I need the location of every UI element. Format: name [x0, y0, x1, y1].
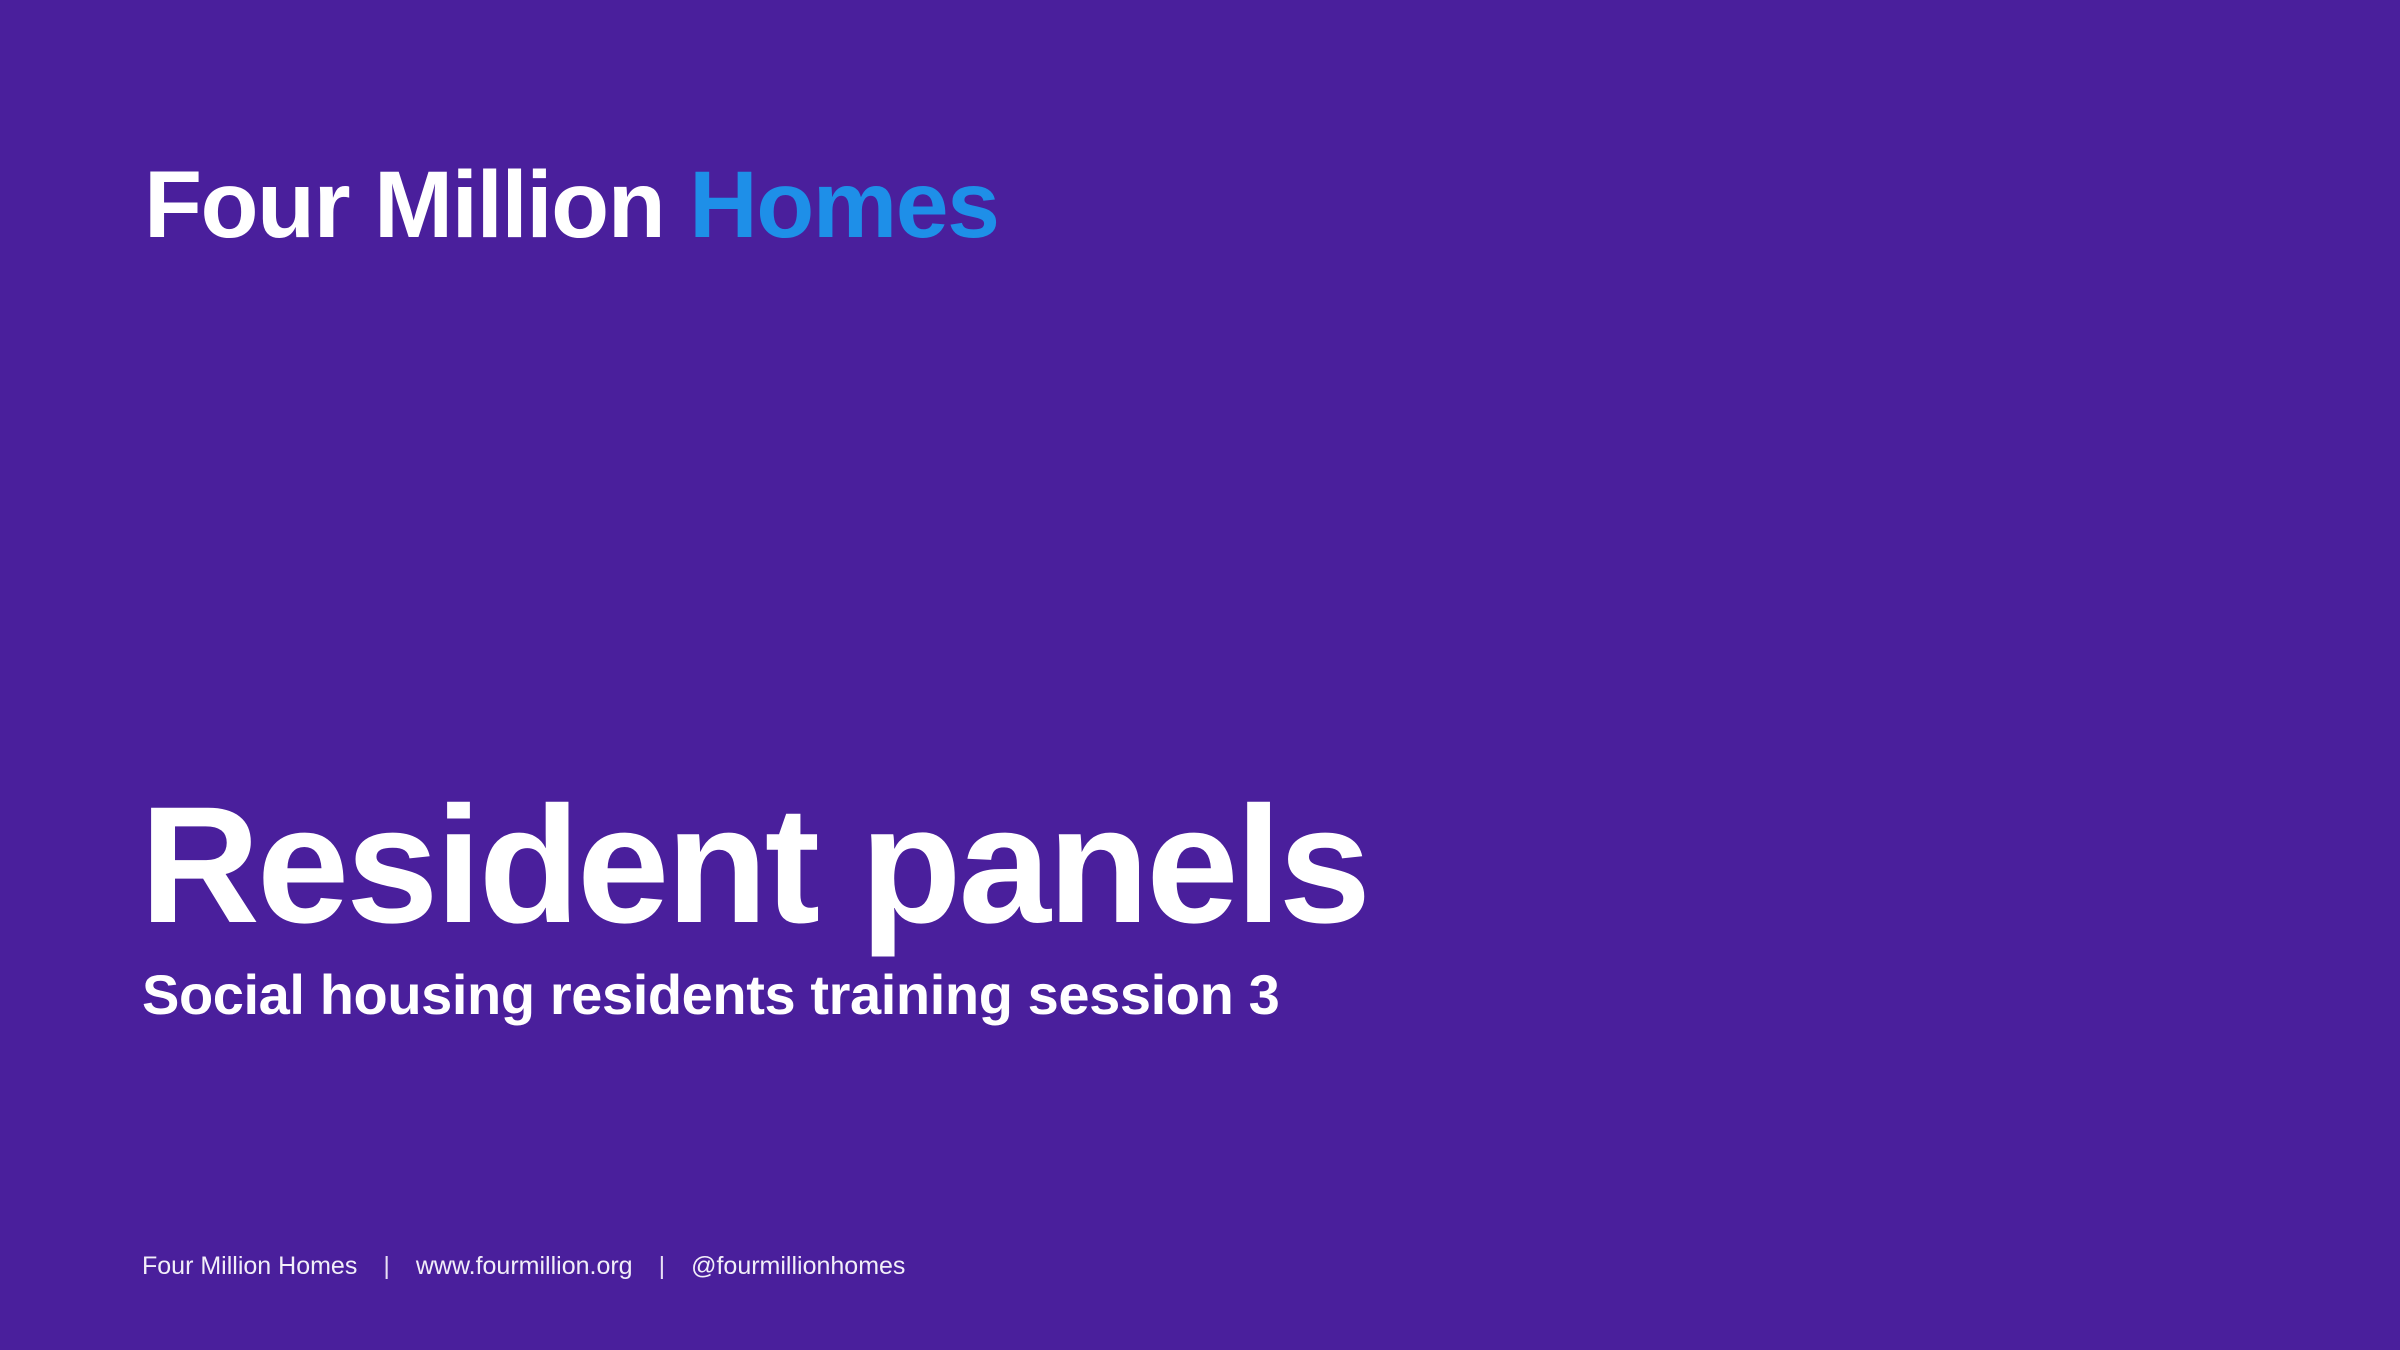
footer-website-link[interactable]: www.fourmillion.org: [416, 1254, 633, 1279]
brand-logo-accent-word: Homes: [689, 152, 998, 258]
footer-separator-1: |: [357, 1254, 416, 1279]
page-subtitle: Social housing residents training sessio…: [142, 967, 1279, 1023]
brand-logo: Four Million Homes: [144, 158, 998, 253]
slide-footer: Four Million Homes | www.fourmillion.org…: [142, 1254, 905, 1279]
brand-logo-accent-text: [664, 152, 689, 258]
footer-organisation: Four Million Homes: [142, 1254, 357, 1279]
brand-logo-primary-text: Four Million: [144, 152, 664, 258]
title-slide: Four Million Homes Resident panels Socia…: [0, 0, 2400, 1350]
footer-social-handle[interactable]: @fourmillionhomes: [691, 1254, 905, 1279]
page-title: Resident panels: [140, 783, 1368, 949]
footer-separator-2: |: [633, 1254, 692, 1279]
